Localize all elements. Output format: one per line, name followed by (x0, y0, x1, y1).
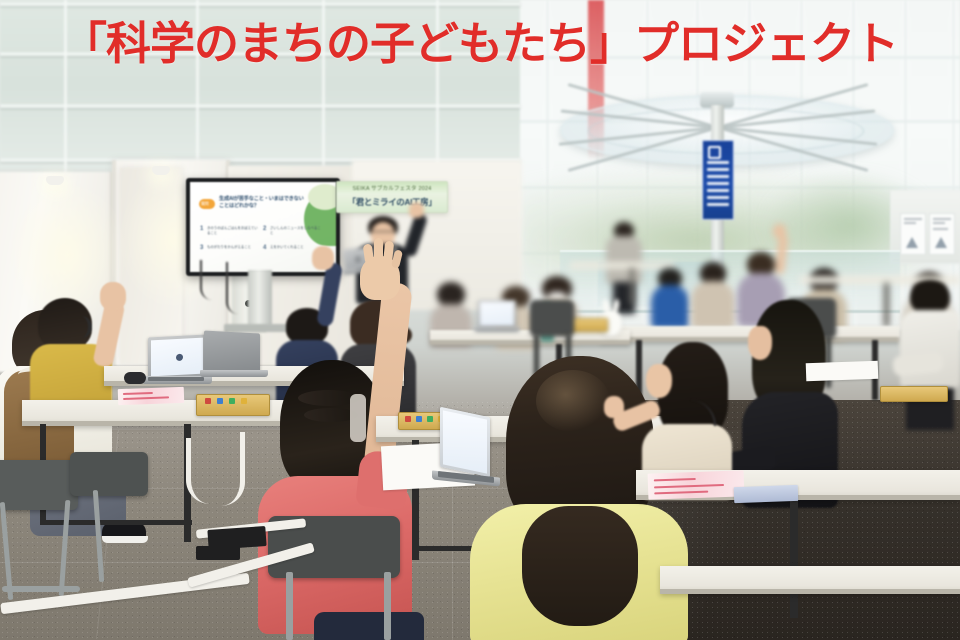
boy-yellow-raised-hand (100, 282, 126, 310)
chair-mid-1 (530, 300, 574, 336)
participant-white-jacket (900, 280, 960, 430)
slide-item-3-num: 3 (200, 245, 203, 251)
woman-black-jacket-face (748, 326, 772, 360)
notebook-right (734, 485, 799, 503)
laptop-left-1-keyboard (148, 377, 204, 381)
slide-item-4-num: 4 (263, 245, 266, 251)
worksheet-right (806, 361, 879, 382)
table-right-lower (660, 566, 960, 594)
girl-coral-jeans (314, 612, 424, 640)
woman-yellow-hair-over-shoulder (522, 506, 638, 626)
power-strip-2 (196, 546, 240, 560)
poster-display-board (890, 190, 960, 264)
photo-canvas: 質問 生成AIが苦手なこと・いまはできないことはどれかな？ 1 きのうのばんごは… (0, 0, 960, 640)
event-banner-event-line: SEIKA サブカルフェスタ 2024 (337, 184, 447, 192)
laptop-mid-1-base (474, 327, 520, 332)
column-sign (702, 140, 734, 220)
slide-blob-light (308, 184, 336, 210)
laptop-left-1-lid (148, 334, 206, 379)
poster-right (929, 213, 955, 255)
boy-navy-raised-hand (312, 246, 334, 270)
girl-coral-finger-2 (374, 238, 383, 264)
presenter-laptop-logo (355, 256, 361, 263)
far-table-leg (630, 268, 634, 304)
chair-left-child (70, 452, 148, 496)
handout-left-1 (118, 387, 185, 405)
far-table-right-leg (884, 283, 889, 327)
slide-item-1-num: 1 (200, 226, 203, 232)
table-right-front-leg (790, 498, 798, 618)
poster-left (900, 213, 926, 255)
laptop-left-2-lid (204, 331, 260, 374)
event-banner: SEIKA サブカルフェスタ 2024 「君とミライのAI工房」 (336, 181, 448, 213)
cable-white-coil-2 (214, 432, 245, 506)
slide-item-2-num: 2 (263, 226, 266, 232)
monitor-cable-2 (226, 262, 248, 314)
title-overlay: 「科学のまちの子どもたち」プロジェクト (0, 16, 960, 72)
boy-yellow-headset (70, 316, 92, 338)
slide-badge-label: 質問 (201, 201, 208, 207)
mouse-left (124, 372, 146, 384)
monitor-cable (200, 260, 228, 300)
slide-item-1-text: きのうのばんごはんをおぼえていること (207, 226, 259, 235)
monitor-stand (248, 270, 272, 326)
slide-item-2-text: さいしんのニュースをしらべること (270, 226, 322, 235)
girl-headphones-face (646, 364, 672, 398)
chair-girl-coral-leg-2 (384, 572, 391, 640)
wooden-tray-right (880, 386, 948, 402)
girl-coral (254, 360, 424, 640)
event-banner-workshop-title: 「君とミライのAI工房」 (343, 196, 441, 208)
handout-right (648, 470, 745, 499)
presenter-glasses (372, 231, 394, 236)
chair-girl-coral-leg (286, 572, 293, 640)
laptop-mid-1-lid (478, 300, 516, 328)
woman-yellow-hair-sheen (536, 370, 610, 432)
slide-heading: 生成AIが苦手なこと・いまはできないことはどれかな？ (219, 196, 306, 210)
chair-left-adult-rail (2, 586, 80, 592)
girl-coral-headband (350, 394, 366, 442)
slide-item-3-text: ものがたりをかんがえること (207, 245, 259, 250)
shoe-sole (102, 536, 148, 543)
presenter-raised-arm (402, 212, 428, 258)
